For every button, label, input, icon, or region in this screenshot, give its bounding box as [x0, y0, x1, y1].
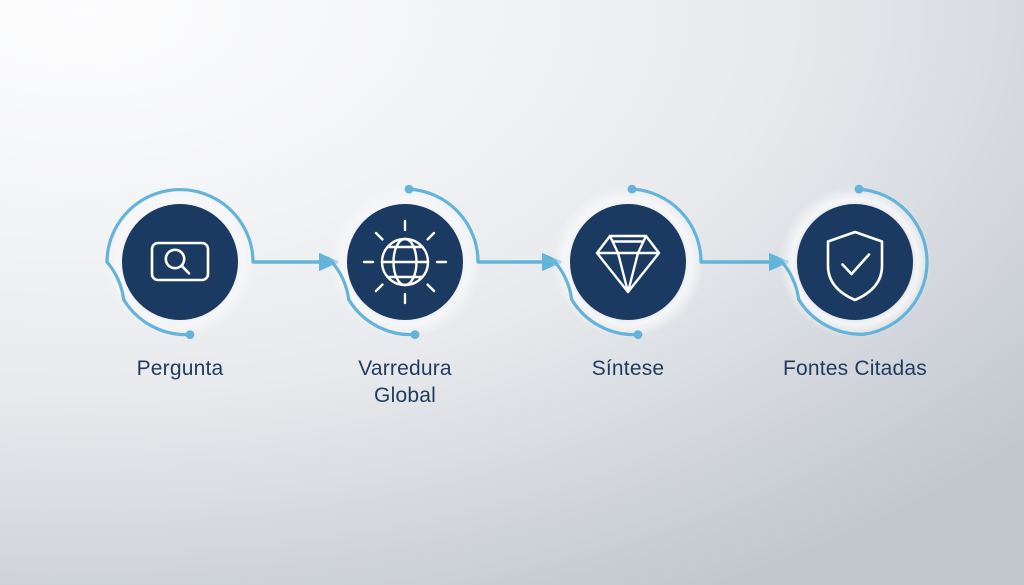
node-circle	[797, 204, 913, 320]
arc-end-dot	[634, 330, 643, 339]
arc-end-dot	[186, 330, 195, 339]
label-varredura-global: Varredura Global	[295, 355, 515, 409]
process-flow-diagram	[0, 0, 1024, 585]
arc-start-dot	[405, 185, 414, 194]
node-sintese[interactable]	[552, 185, 704, 339]
arc-end-dot	[411, 330, 420, 339]
arc-start-dot	[628, 185, 637, 194]
label-fontes-citadas: Fontes Citadas	[730, 355, 980, 382]
label-sintese: Síntese	[518, 355, 738, 382]
node-pergunta[interactable]	[104, 186, 256, 339]
node-fontes-citadas[interactable]	[779, 185, 931, 338]
label-pergunta: Pergunta	[70, 355, 290, 382]
node-varredura-global[interactable]	[329, 185, 481, 339]
node-circle	[122, 204, 238, 320]
arc-start-dot	[855, 185, 864, 194]
diagram-canvas: Pergunta Varredura Global Síntese Fontes…	[0, 0, 1024, 585]
node-circle	[570, 204, 686, 320]
